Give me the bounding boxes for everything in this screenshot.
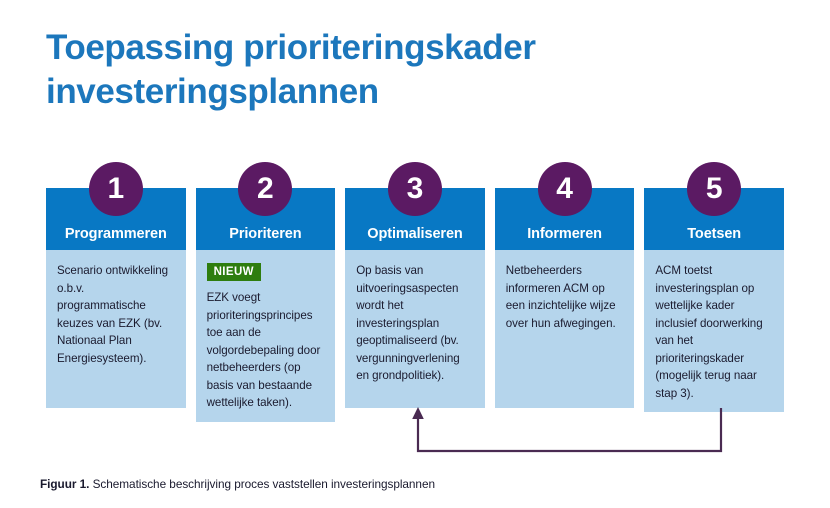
- step-body-3: Op basis van uitvoeringsaspecten wordt h…: [345, 250, 485, 408]
- step-number-badge-3: 3: [388, 162, 442, 216]
- step-text-5: ACM toetst investeringsplan op wettelijk…: [655, 262, 773, 402]
- nieuw-tag: NIEUW: [207, 263, 261, 281]
- step-number-badge-4: 4: [538, 162, 592, 216]
- caption-text: Schematische beschrijving proces vastste…: [89, 477, 435, 491]
- step-label-5: Toetsen: [687, 226, 741, 242]
- process-step-3: 3 Optimaliseren Op basis van uitvoerings…: [345, 188, 485, 408]
- step-number-badge-2: 2: [238, 162, 292, 216]
- step-number-badge-1: 1: [89, 162, 143, 216]
- step-text-2: EZK voegt prioriteringsprincipes toe aan…: [207, 289, 325, 412]
- step-label-2: Prioriteren: [229, 226, 301, 242]
- process-step-2: 2 Prioriteren NIEUW EZK voegt prioriteri…: [196, 188, 336, 408]
- step-text-3: Op basis van uitvoeringsaspecten wordt h…: [356, 262, 474, 385]
- step-label-1: Programmeren: [65, 226, 167, 242]
- step-text-4: Netbeheerders informeren ACM op een inzi…: [506, 262, 624, 332]
- step-header-2: 2 Prioriteren: [196, 188, 336, 250]
- figure-root: Toepassing prioriteringskader investerin…: [0, 0, 830, 508]
- page-title-line-1: Toepassing prioriteringskader: [46, 26, 746, 70]
- step-body-5: ACM toetst investeringsplan op wettelijk…: [644, 250, 784, 412]
- process-step-5: 5 Toetsen ACM toetst investeringsplan op…: [644, 188, 784, 408]
- step-label-3: Optimaliseren: [367, 226, 462, 242]
- step-number-4: 4: [556, 174, 573, 204]
- step-header-3: 3 Optimaliseren: [345, 188, 485, 250]
- step-header-5: 5 Toetsen: [644, 188, 784, 250]
- step-text-1: Scenario ontwikkeling o.b.v. programmati…: [57, 262, 175, 367]
- step-number-3: 3: [407, 174, 424, 204]
- step-label-4: Informeren: [527, 226, 602, 242]
- step-number-badge-5: 5: [687, 162, 741, 216]
- step-body-1: Scenario ontwikkeling o.b.v. programmati…: [46, 250, 186, 408]
- step-header-4: 4 Informeren: [495, 188, 635, 250]
- feedback-arrow-path: [418, 408, 721, 451]
- feedback-arrowhead-icon: [412, 407, 424, 419]
- step-body-2: NIEUW EZK voegt prioriteringsprincipes t…: [196, 250, 336, 422]
- step-number-2: 2: [257, 174, 274, 204]
- step-number-1: 1: [107, 174, 124, 204]
- page-title-line-2: investeringsplannen: [46, 70, 746, 114]
- process-step-1: 1 Programmeren Scenario ontwikkeling o.b…: [46, 188, 186, 408]
- process-steps: 1 Programmeren Scenario ontwikkeling o.b…: [46, 188, 784, 408]
- page-title: Toepassing prioriteringskader investerin…: [46, 26, 746, 114]
- caption-label: Figuur 1.: [40, 477, 89, 491]
- step-number-5: 5: [706, 174, 723, 204]
- figure-caption: Figuur 1. Schematische beschrijving proc…: [40, 477, 435, 491]
- step-header-1: 1 Programmeren: [46, 188, 186, 250]
- process-step-4: 4 Informeren Netbeheerders informeren AC…: [495, 188, 635, 408]
- step-body-4: Netbeheerders informeren ACM op een inzi…: [495, 250, 635, 408]
